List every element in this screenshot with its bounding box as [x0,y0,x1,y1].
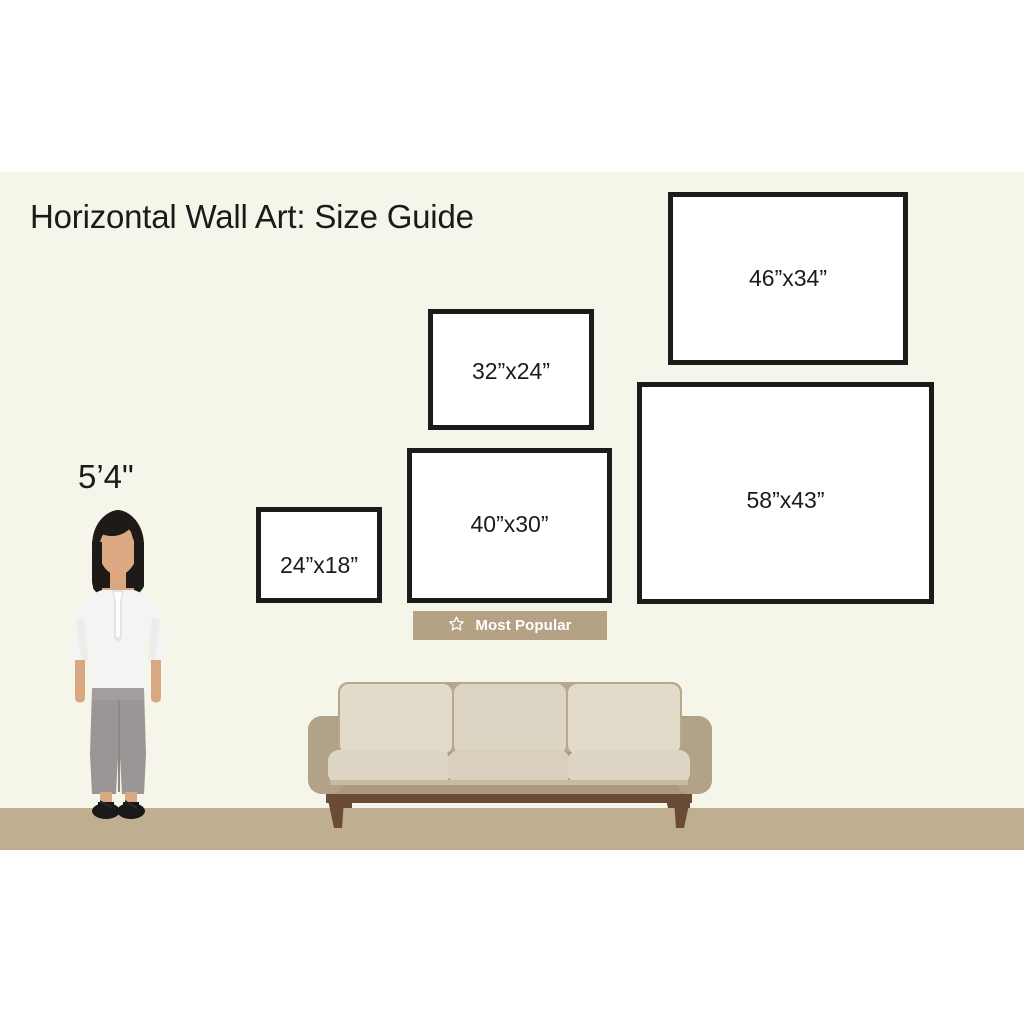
frame-58x43-label: 58”x43” [642,487,929,514]
frame-46x34-label: 46”x34” [673,265,903,292]
frame-58x43[interactable]: 58”x43” [637,382,934,604]
most-popular-badge[interactable]: Most Popular [413,611,607,640]
page-title: Horizontal Wall Art: Size Guide [30,198,474,236]
person-svg [62,508,174,820]
size-guide-canvas: Horizontal Wall Art: Size Guide [0,0,1024,1024]
sofa-figure [290,668,730,830]
frame-40x30[interactable]: 40”x30” [407,448,612,603]
frame-40x30-label: 40”x30” [412,511,607,538]
frame-32x24-label: 32”x24” [433,358,589,385]
star-outline-icon [448,615,465,637]
most-popular-label: Most Popular [475,617,571,634]
sofa-svg [290,668,730,830]
frame-24x18[interactable]: 24”x18” [256,507,382,603]
person-figure [62,508,174,820]
frame-32x24[interactable]: 32”x24” [428,309,594,430]
frame-24x18-label: 24”x18” [261,552,377,579]
person-height-label: 5’4" [78,458,134,496]
frame-46x34[interactable]: 46”x34” [668,192,908,365]
